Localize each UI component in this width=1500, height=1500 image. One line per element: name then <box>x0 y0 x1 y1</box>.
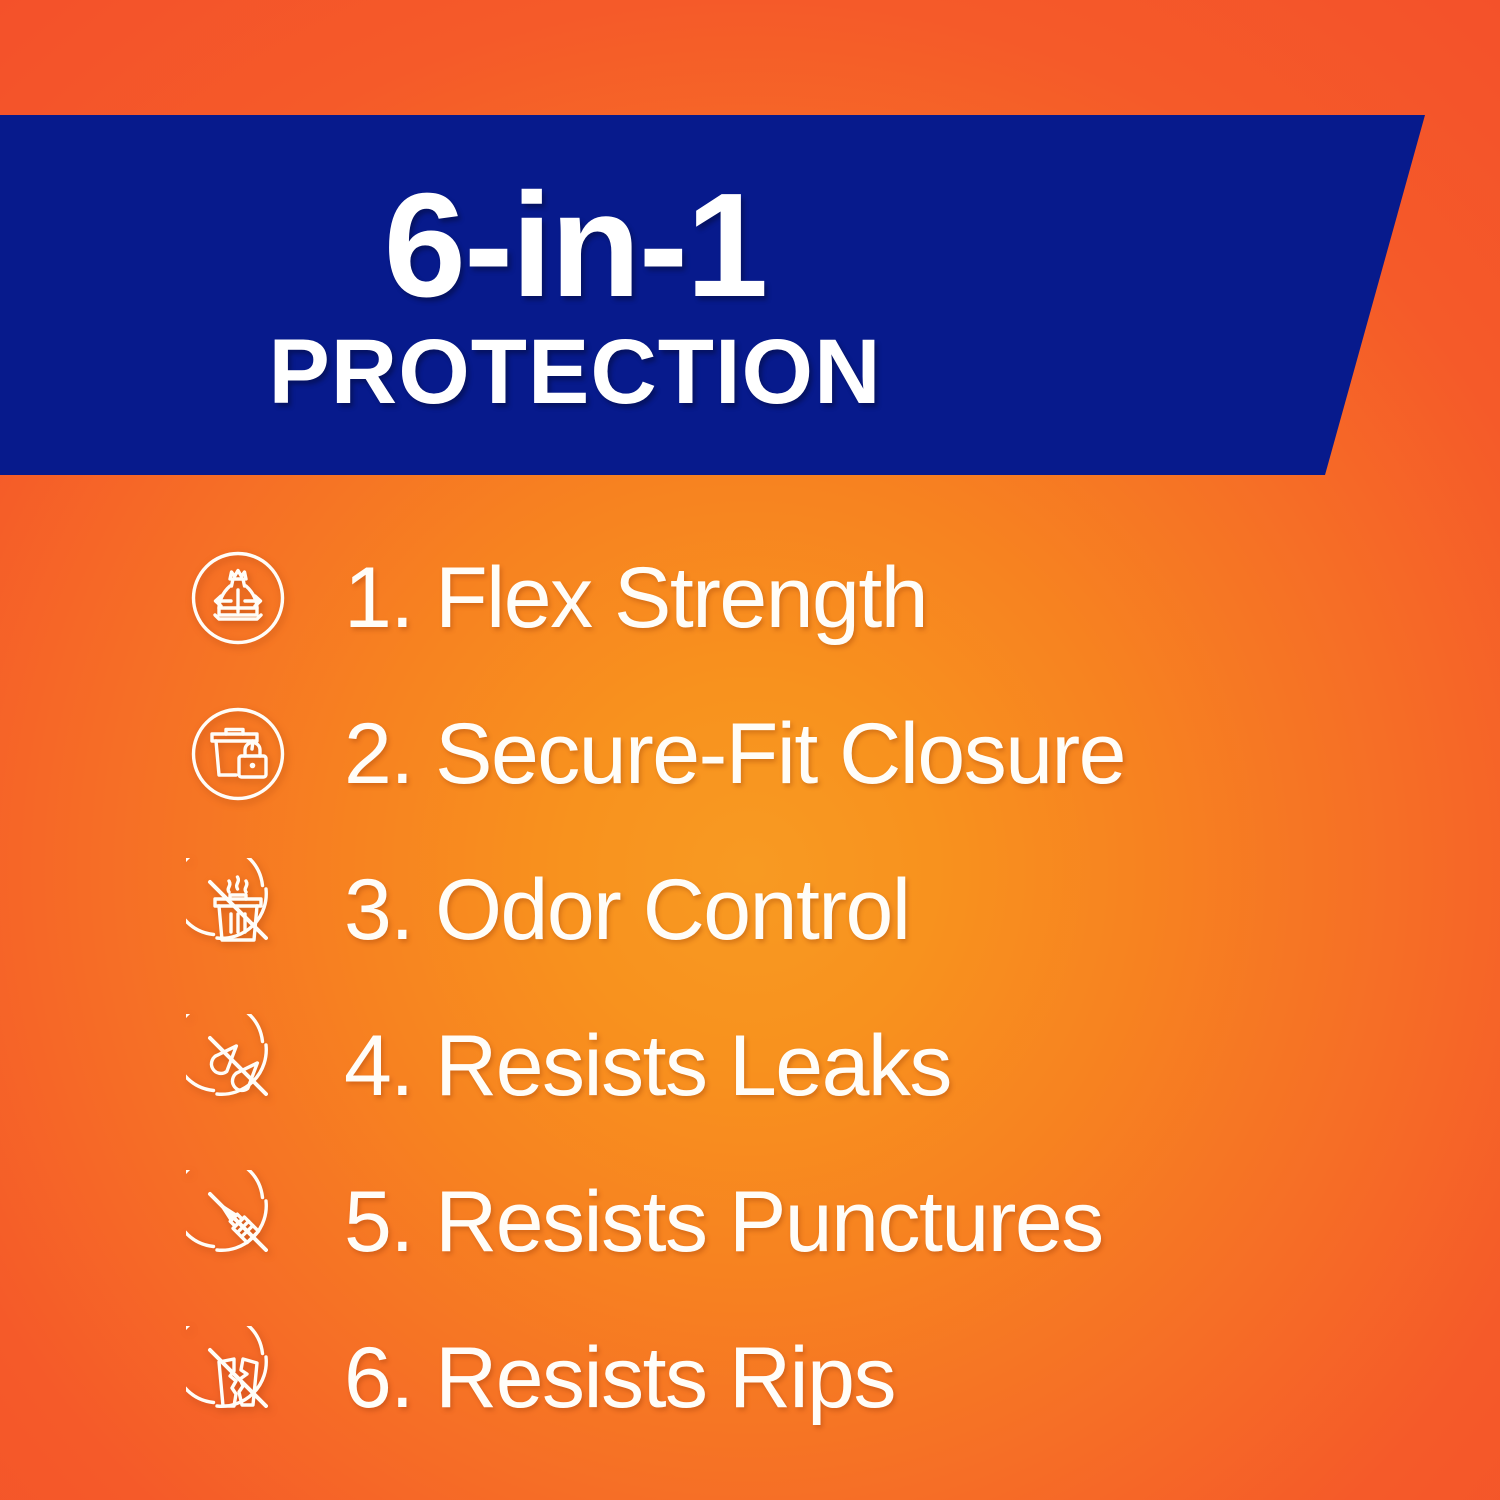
feature-list: 1. Flex Strength <box>186 520 1456 1456</box>
feature-label: 2. Secure-Fit Closure <box>344 711 1125 797</box>
feature-label: 3. Odor Control <box>344 867 909 953</box>
list-item: 5. Resists Punctures <box>186 1144 1456 1300</box>
no-leak-droplets-icon <box>186 1014 290 1118</box>
page-title: 6-in-1 <box>384 172 767 320</box>
list-item: 6. Resists Rips <box>186 1300 1456 1456</box>
no-odor-trash-can-icon <box>186 858 290 962</box>
list-item: 1. Flex Strength <box>186 520 1456 676</box>
feature-label: 4. Resists Leaks <box>344 1023 951 1109</box>
feature-label: 1. Flex Strength <box>344 555 927 641</box>
headline-banner: 6-in-1 PROTECTION <box>0 115 1425 475</box>
feature-label: 5. Resists Punctures <box>344 1179 1103 1265</box>
no-rip-torn-bag-icon <box>186 1326 290 1430</box>
flex-bag-stretch-icon <box>186 546 290 650</box>
list-item: 3. Odor Control <box>186 832 1456 988</box>
feature-label: 6. Resists Rips <box>344 1335 895 1421</box>
page-subtitle: PROTECTION <box>268 326 881 418</box>
no-puncture-tool-icon <box>186 1170 290 1274</box>
headline-banner-content: 6-in-1 PROTECTION <box>0 115 1150 475</box>
list-item: 2. Secure-Fit Closure <box>186 676 1456 832</box>
promo-graphic: 6-in-1 PROTECTION <box>0 0 1500 1500</box>
trash-can-lock-icon <box>186 702 290 806</box>
list-item: 4. Resists Leaks <box>186 988 1456 1144</box>
